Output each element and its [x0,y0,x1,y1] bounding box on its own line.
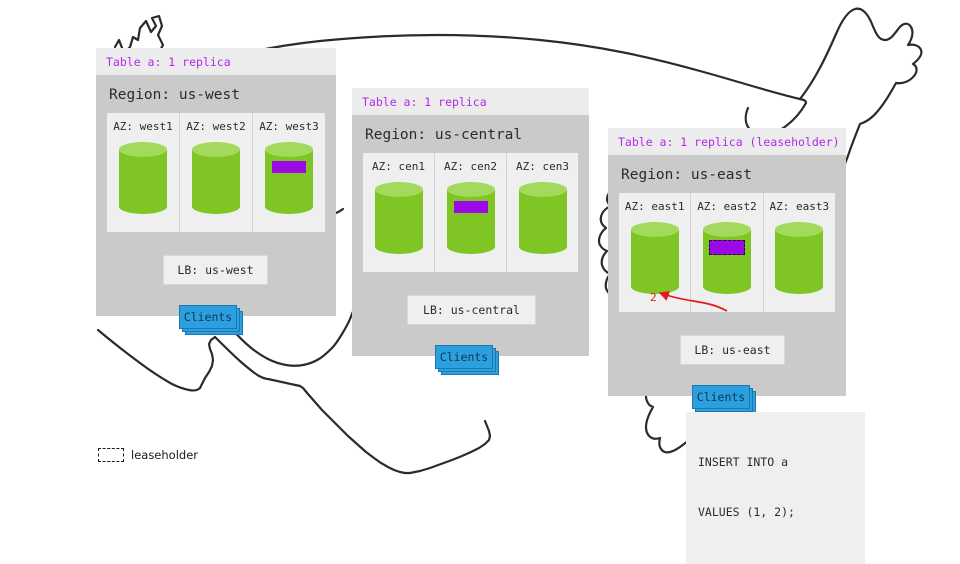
cylinder-top [703,222,751,237]
diagram-canvas: Table a: 1 replica Region: us-west AZ: w… [0,0,960,540]
region-title-us-west: Region: us-west [107,83,325,113]
clients-label: Clients [184,310,232,324]
clients-card-front[interactable]: Clients [435,345,493,369]
clients-card-front[interactable]: Clients [692,385,750,409]
cylinder-top [631,222,679,237]
az-label-cen3: AZ: cen3 [507,160,578,173]
clients-label: Clients [440,350,488,364]
clients-card-front[interactable]: Clients [179,305,237,329]
legend-label: leaseholder [131,448,198,462]
cylinder-body [447,189,495,247]
dashed-rect-icon [98,448,124,462]
az-cell-cen1[interactable]: AZ: cen1 [363,153,434,272]
region-panel-us-west: Table a: 1 replica Region: us-west AZ: w… [96,48,336,316]
cylinder-body [631,229,679,287]
node-cylinder-east1[interactable] [631,222,679,294]
leaseholder-replica-block-east2[interactable] [709,240,745,255]
az-cell-west2[interactable]: AZ: west2 [179,113,252,232]
az-strip-us-central: AZ: cen1 AZ: cen2 [363,153,578,272]
cylinder-body [119,149,167,207]
node-cylinder-west3[interactable] [265,142,313,214]
arrow-step-label-2: 2 [650,291,657,304]
az-label-cen1: AZ: cen1 [363,160,434,173]
cylinder-body [703,229,751,287]
az-cell-cen2[interactable]: AZ: cen2 [434,153,506,272]
region-panel-us-east: Table a: 1 replica (leaseholder) Region:… [608,128,846,396]
region-title-us-central: Region: us-central [363,123,578,153]
cylinder-body [265,149,313,207]
legend: leaseholder [98,448,198,462]
panel-body-us-east: Region: us-east AZ: east1 AZ: east2 [608,155,846,396]
cylinder-top [775,222,823,237]
cylinder-body [192,149,240,207]
clients-us-central[interactable]: Clients [435,345,503,377]
region-panel-us-central: Table a: 1 replica Region: us-central AZ… [352,88,589,356]
load-balancer-us-central[interactable]: LB: us-central [407,295,536,325]
node-cylinder-west2[interactable] [192,142,240,214]
cylinder-top [519,182,567,197]
az-cell-west1[interactable]: AZ: west1 [107,113,179,232]
node-cylinder-cen2[interactable] [447,182,495,254]
az-cell-cen3[interactable]: AZ: cen3 [506,153,578,272]
sql-statement-box: INSERT INTO a VALUES (1, 2); [686,412,865,564]
cylinder-top [447,182,495,197]
az-label-west3: AZ: west3 [253,120,325,133]
clients-us-west[interactable]: Clients [179,305,247,337]
load-balancer-us-east[interactable]: LB: us-east [680,335,785,365]
az-label-east1: AZ: east1 [619,200,690,213]
az-label-west2: AZ: west2 [180,120,252,133]
cylinder-top [119,142,167,157]
az-label-west1: AZ: west1 [107,120,179,133]
sql-line-1: INSERT INTO a [698,454,853,471]
node-cylinder-east2[interactable] [703,222,751,294]
cylinder-top [265,142,313,157]
node-cylinder-cen1[interactable] [375,182,423,254]
panel-body-us-west: Region: us-west AZ: west1 AZ: west2 [96,75,336,316]
az-cell-west3[interactable]: AZ: west3 [252,113,325,232]
panel-header-us-central: Table a: 1 replica [352,88,589,115]
node-cylinder-cen3[interactable] [519,182,567,254]
replica-block-cen2[interactable] [454,201,488,213]
az-cell-east2[interactable]: AZ: east2 [690,193,762,312]
sql-line-2: VALUES (1, 2); [698,504,853,521]
cylinder-body [519,189,567,247]
node-cylinder-east3[interactable] [775,222,823,294]
az-cell-east3[interactable]: AZ: east3 [763,193,835,312]
cylinder-body [775,229,823,287]
region-title-us-east: Region: us-east [619,163,835,193]
node-cylinder-west1[interactable] [119,142,167,214]
az-label-east3: AZ: east3 [764,200,835,213]
panel-header-us-east: Table a: 1 replica (leaseholder) [608,128,846,155]
load-balancer-us-west[interactable]: LB: us-west [163,255,268,285]
az-label-east2: AZ: east2 [691,200,762,213]
az-label-cen2: AZ: cen2 [435,160,506,173]
cylinder-top [375,182,423,197]
panel-body-us-central: Region: us-central AZ: cen1 AZ: cen2 [352,115,589,356]
panel-header-us-west: Table a: 1 replica [96,48,336,75]
az-strip-us-west: AZ: west1 AZ: west2 [107,113,325,232]
cylinder-top [192,142,240,157]
cylinder-body [375,189,423,247]
replica-block-west3[interactable] [272,161,306,173]
clients-label: Clients [697,390,745,404]
